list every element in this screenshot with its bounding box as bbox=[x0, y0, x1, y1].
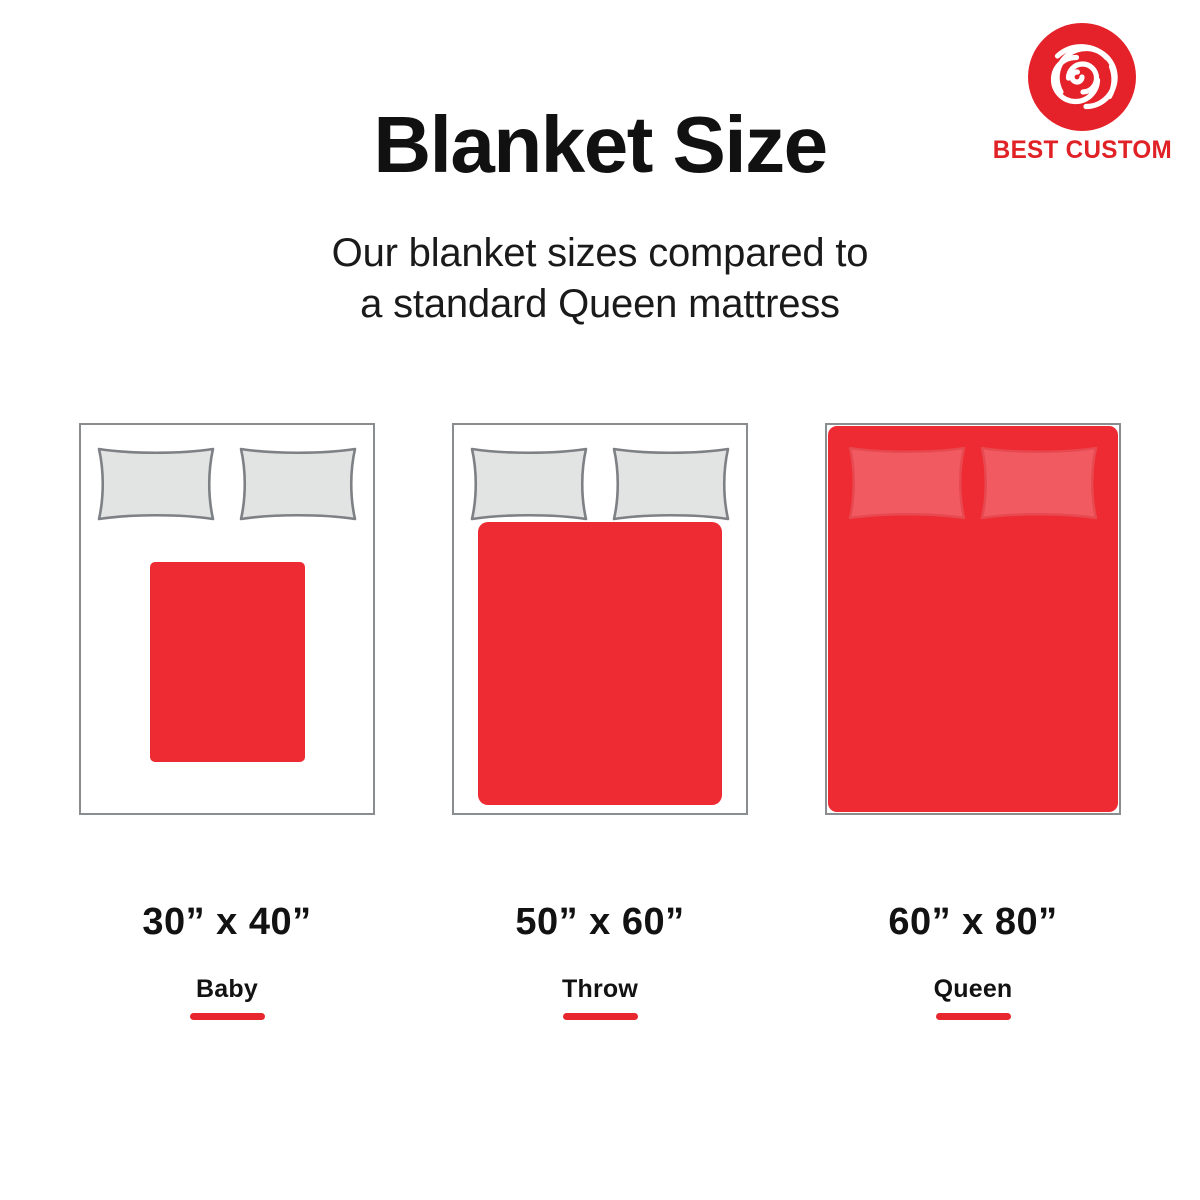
size-name-throw: Throw bbox=[452, 977, 748, 1002]
page-subtitle: Our blanket sizes compared to a standard… bbox=[0, 228, 1200, 330]
bed-diagram-baby bbox=[79, 423, 375, 815]
pillow-icon bbox=[610, 445, 732, 523]
bed-comparison-row bbox=[0, 423, 1200, 843]
pillow-icon bbox=[237, 445, 359, 523]
pillow-icon bbox=[847, 445, 967, 521]
page-title: Blanket Size bbox=[0, 104, 1200, 186]
underline-rule-throw bbox=[452, 1013, 748, 1020]
blanket-throw bbox=[478, 522, 722, 805]
dimensions-label-queen: 60” x 80” bbox=[825, 903, 1121, 941]
pillow-icon bbox=[95, 445, 217, 523]
dimensions-label-throw: 50” x 60” bbox=[452, 903, 748, 941]
pillow-row bbox=[468, 445, 732, 523]
blanket-baby bbox=[150, 562, 305, 762]
pillow-row bbox=[847, 445, 1099, 521]
pillow-row bbox=[95, 445, 359, 523]
blanket-queen bbox=[828, 426, 1118, 812]
underline-rule-queen bbox=[825, 1013, 1121, 1020]
dimensions-label-baby: 30” x 40” bbox=[79, 903, 375, 941]
subtitle-line-2: a standard Queen mattress bbox=[0, 279, 1200, 330]
bed-diagram-queen bbox=[825, 423, 1121, 815]
size-name-queen: Queen bbox=[825, 977, 1121, 1002]
underline-rule-baby bbox=[79, 1013, 375, 1020]
pillow-icon bbox=[468, 445, 590, 523]
size-name-baby: Baby bbox=[79, 977, 375, 1002]
bed-diagram-throw bbox=[452, 423, 748, 815]
subtitle-line-1: Our blanket sizes compared to bbox=[0, 228, 1200, 279]
pillow-icon bbox=[979, 445, 1099, 521]
